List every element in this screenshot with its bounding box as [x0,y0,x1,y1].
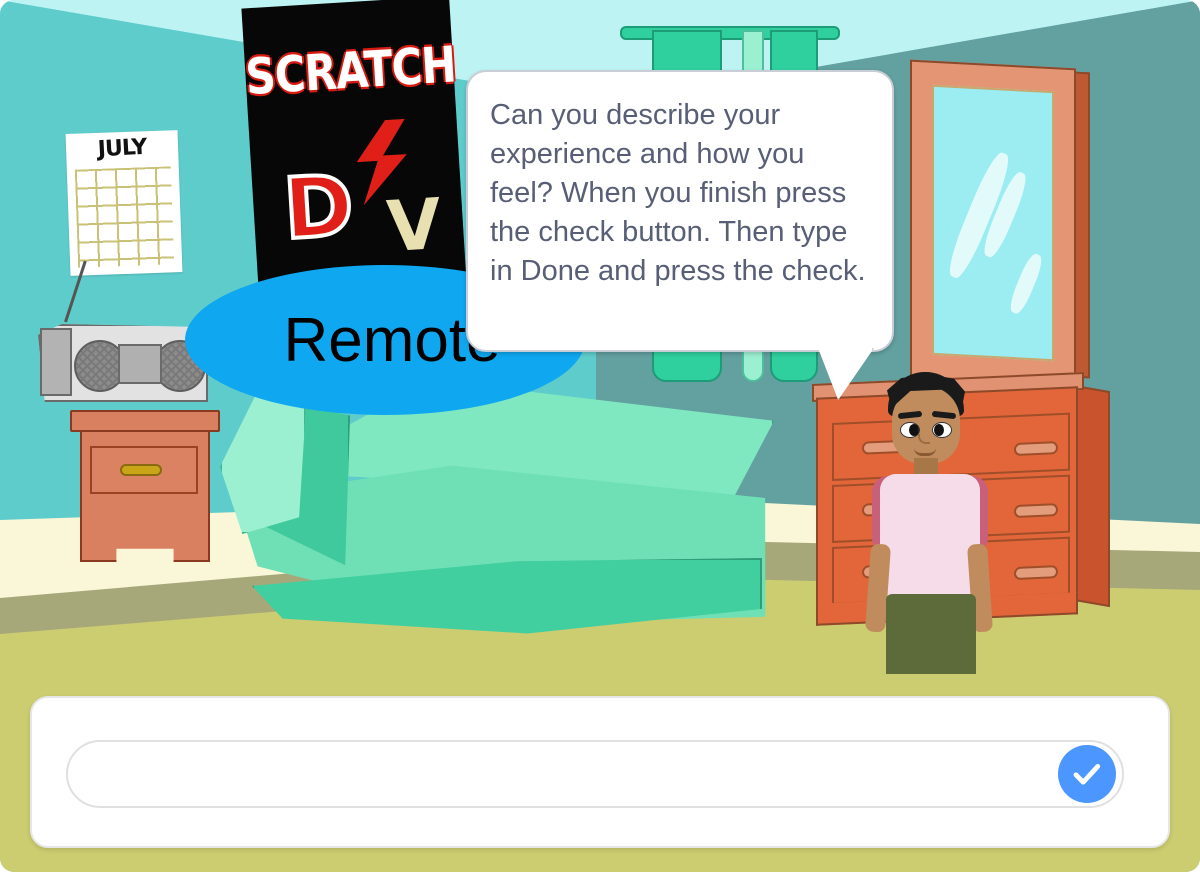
dresser-side [1074,385,1110,607]
check-button[interactable] [1058,745,1116,803]
mirror [910,64,1076,382]
nightstand [70,410,220,560]
nightstand-legs [80,540,210,562]
boombox-cassette-deck [118,344,162,384]
ask-prompt-panel [30,696,1170,848]
nightstand-drawer-handle [120,464,162,476]
ask-input[interactable] [66,740,1124,808]
dresser-handle-3-right [1014,565,1058,580]
speech-bubble-text: Can you describe your experience and how… [490,96,872,291]
sprite-shirt [880,474,980,602]
poster-letter-v: V [385,193,443,259]
calendar-month-label: JULY [66,133,179,164]
boombox-side-panel [40,328,72,396]
dresser-handle-1-right [1014,441,1058,456]
boombox [38,310,208,414]
ask-input-row [66,740,1124,808]
sprite-pants [886,594,976,674]
bed [210,380,790,670]
mirror-frame-side [1074,72,1090,379]
wall-poster: SCRATCH D V [241,0,466,296]
speech-bubble: Can you describe your experience and how… [466,70,894,352]
mirror-glint-3 [1007,251,1046,316]
calendar-grid [75,166,174,267]
check-icon [1070,757,1104,791]
wall-calendar: JULY [66,130,183,276]
boy-sprite[interactable] [840,372,1020,672]
sprite-pupil-right [934,424,944,436]
dresser-handle-2-right [1014,503,1058,518]
poster-title: SCRATCH [244,35,455,105]
bed-pillow [220,394,306,534]
scratch-stage[interactable]: JULY SCRATCH D V [0,0,1200,872]
mirror-glass [932,85,1054,361]
poster-letter-d: D [281,168,355,248]
